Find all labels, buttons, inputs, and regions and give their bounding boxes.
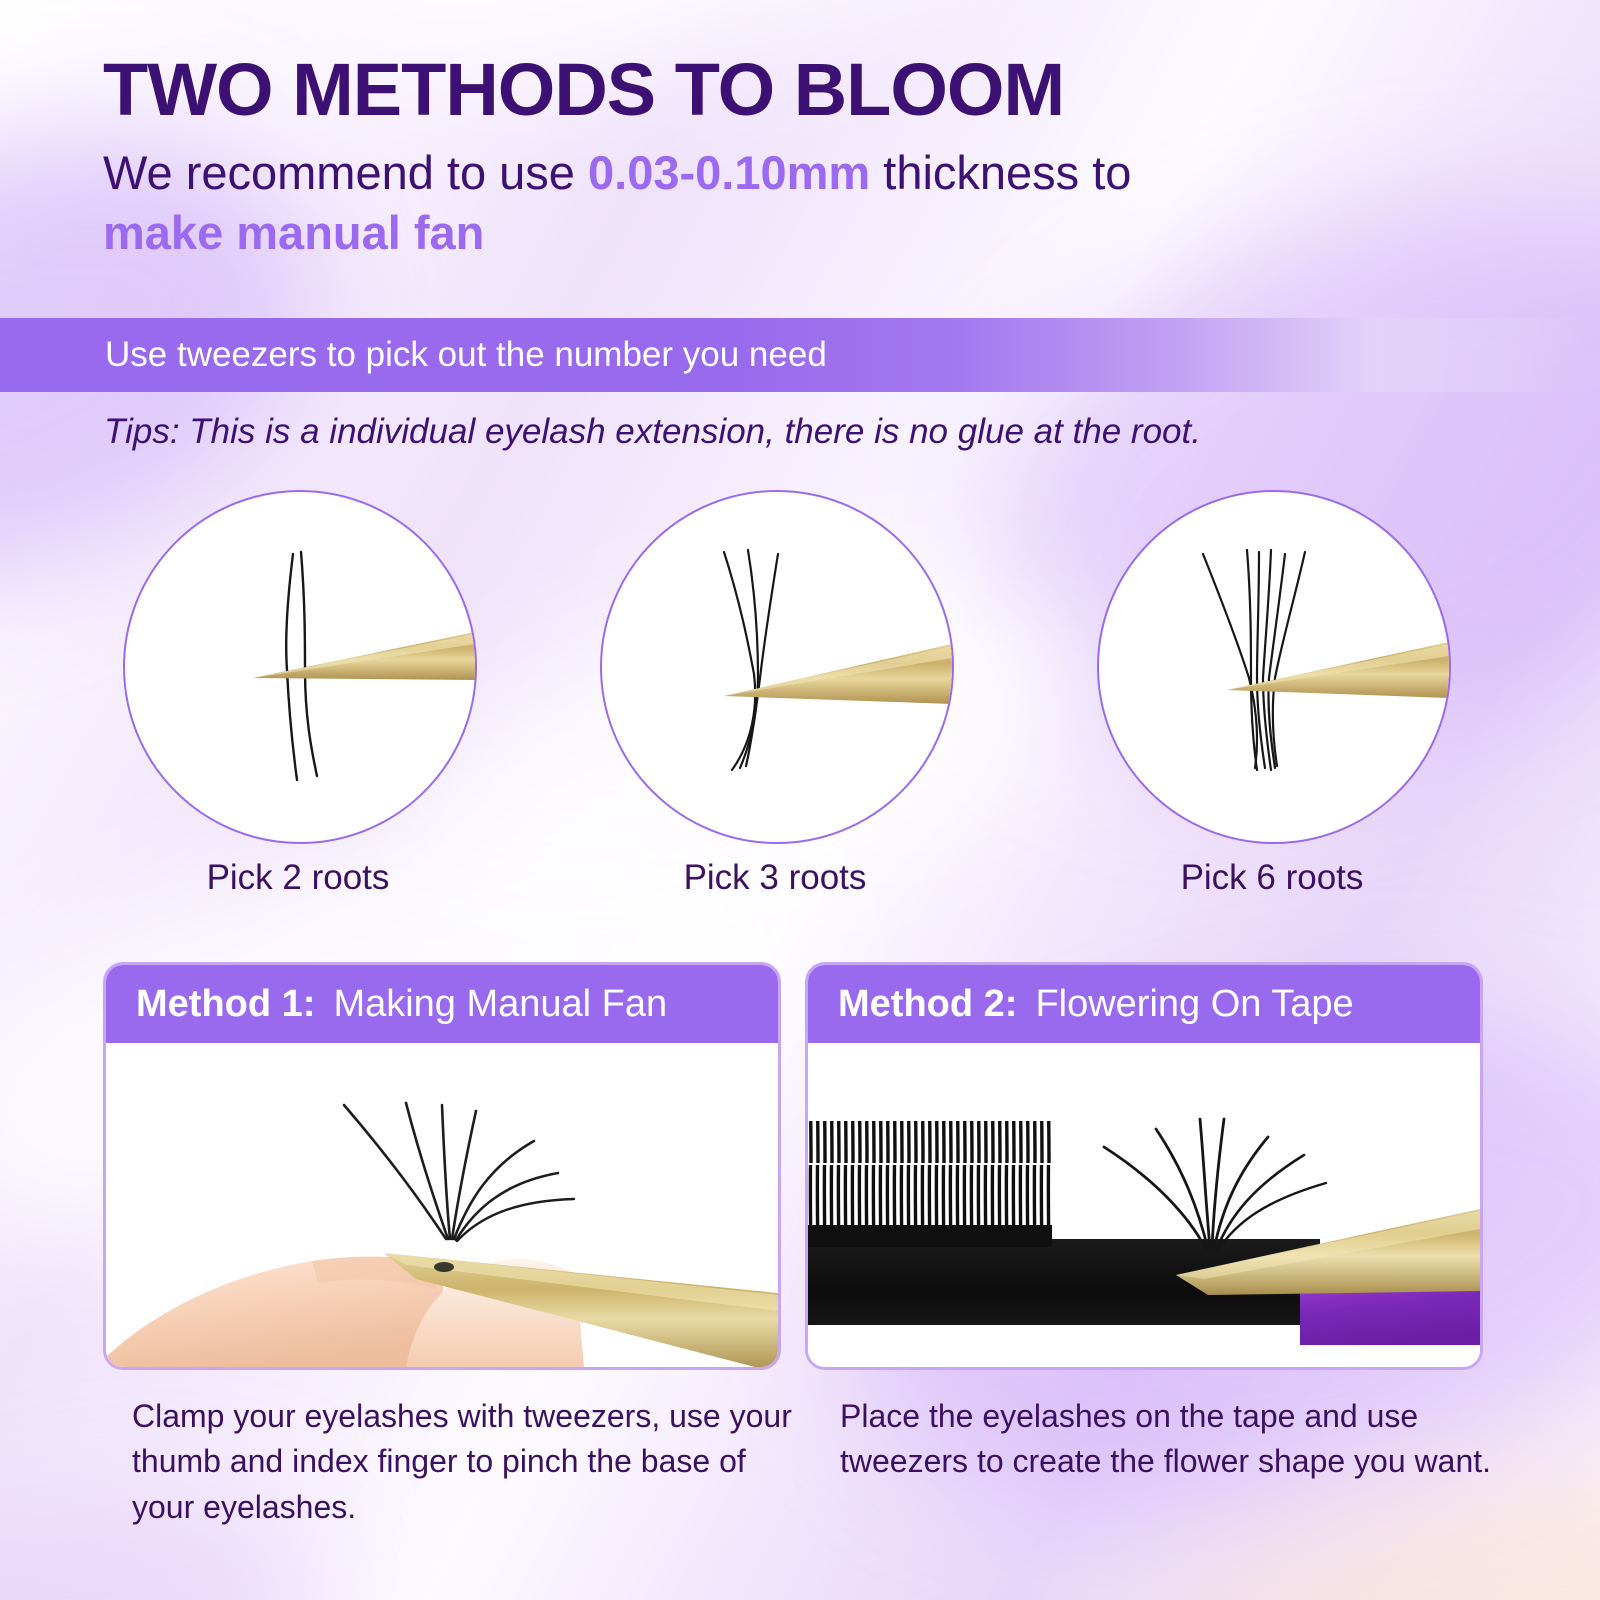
pick-roots-item-1: Pick 2 roots: [123, 490, 473, 930]
hand-tweezer-fan-photo: [106, 1043, 778, 1367]
tips-text: Tips: This is a individual eyelash exten…: [104, 412, 1201, 452]
method-2-caption: Place the eyelashes on the tape and use …: [840, 1394, 1520, 1485]
method-1-title: Making Manual Fan: [333, 983, 667, 1026]
pick-roots-label-1: Pick 2 roots: [123, 858, 473, 898]
pick-roots-row: Pick 2 roots: [0, 490, 1600, 930]
method-2-label: Method 2:: [838, 983, 1017, 1026]
pick-roots-label-2: Pick 3 roots: [600, 858, 950, 898]
pick-roots-circle-2: [600, 490, 954, 844]
thickness-value: 0.03-0.10mm: [588, 146, 870, 199]
method-card-1-header: Method 1: Making Manual Fan: [106, 965, 778, 1043]
lash-strip-tape-tweezer-photo: [808, 1043, 1480, 1367]
method-card-2: Method 2: Flowering On Tape: [805, 962, 1483, 1370]
page-title: TWO METHODS TO BLOOM: [103, 52, 1503, 129]
method-1-caption: Clamp your eyelashes with tweezers, use …: [132, 1394, 812, 1530]
tweezer-lashes-icon: [602, 492, 952, 842]
pick-roots-circle-1: [123, 490, 477, 844]
method-1-photo: [106, 1043, 778, 1367]
method-card-2-header: Method 2: Flowering On Tape: [808, 965, 1480, 1043]
pick-roots-label-3: Pick 6 roots: [1097, 858, 1447, 898]
tweezer-lashes-icon: [1099, 492, 1449, 842]
recommendation-line2: make manual fan: [103, 203, 1503, 263]
method-2-photo: [808, 1043, 1480, 1367]
instruction-banner-text: Use tweezers to pick out the number you …: [105, 335, 827, 375]
header-block: TWO METHODS TO BLOOM We recommend to use…: [103, 52, 1503, 263]
method-1-label: Method 1:: [136, 983, 315, 1026]
tweezer-lashes-icon: [125, 492, 475, 842]
recommendation-line: We recommend to use 0.03-0.10mm thicknes…: [103, 143, 1503, 203]
pick-roots-item-3: Pick 6 roots: [1097, 490, 1447, 930]
recommendation-suffix: thickness to: [870, 146, 1131, 199]
instruction-banner: Use tweezers to pick out the number you …: [0, 318, 1600, 392]
infographic-page: TWO METHODS TO BLOOM We recommend to use…: [0, 0, 1600, 1600]
recommendation-prefix: We recommend to use: [103, 146, 588, 199]
method-card-1: Method 1: Making Manual Fan: [103, 962, 781, 1370]
method-2-title: Flowering On Tape: [1035, 983, 1353, 1026]
pick-roots-circle-3: [1097, 490, 1451, 844]
pick-roots-item-2: Pick 3 roots: [600, 490, 950, 930]
